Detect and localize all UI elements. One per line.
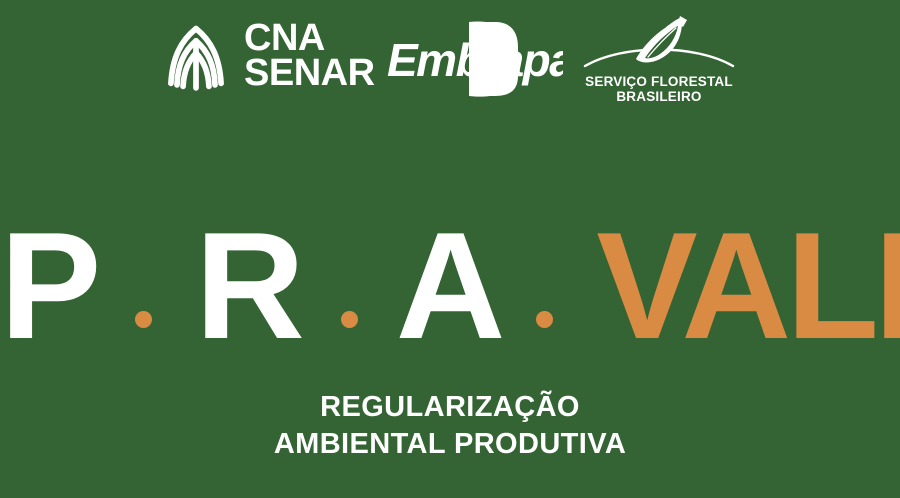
sfb-wordmark: SERVIÇO FLORESTAL BRASILEIRO — [585, 75, 733, 104]
pravaler-poster: CNA SENAR Embrapa — [0, 0, 900, 498]
wordmark-letter-r: R — [195, 201, 300, 371]
pravaler-wordmark: P R A VALER — [0, 210, 900, 362]
wordmark-dot-2 — [341, 311, 358, 328]
wheat-sheaf-icon — [158, 18, 234, 94]
wordmark-dot-1 — [135, 311, 152, 328]
wordmark-letter-a: A — [396, 201, 495, 371]
poster-subtitle: REGULARIZAÇÃO AMBIENTAL PRODUTIVA — [0, 389, 900, 463]
subtitle-line-1: REGULARIZAÇÃO — [0, 389, 900, 426]
subtitle-line-2: AMBIENTAL PRODUTIVA — [0, 426, 900, 463]
partner-logo-strip: CNA SENAR Embrapa — [0, 0, 900, 118]
senar-label: SENAR — [244, 56, 375, 91]
cna-label: CNA — [244, 21, 375, 56]
cna-senar-wordmark: CNA SENAR — [244, 21, 375, 92]
sfb-line-2: BRASILEIRO — [585, 90, 733, 105]
sfb-line-1: SERVIÇO FLORESTAL — [585, 75, 733, 90]
logo-embrapa: Embrapa — [383, 14, 563, 102]
logo-cna-senar: CNA SENAR — [158, 18, 375, 94]
wordmark-valer: VALER — [596, 201, 900, 371]
wordmark-dot-3 — [536, 311, 553, 328]
svg-text:Embrapa: Embrapa — [387, 34, 563, 86]
logo-servico-florestal-brasileiro: SERVIÇO FLORESTAL BRASILEIRO — [579, 14, 739, 104]
embrapa-leaf-icon: Embrapa — [383, 14, 563, 102]
leaf-with-arc-icon — [579, 14, 739, 74]
wordmark-letter-p: P — [0, 201, 94, 371]
